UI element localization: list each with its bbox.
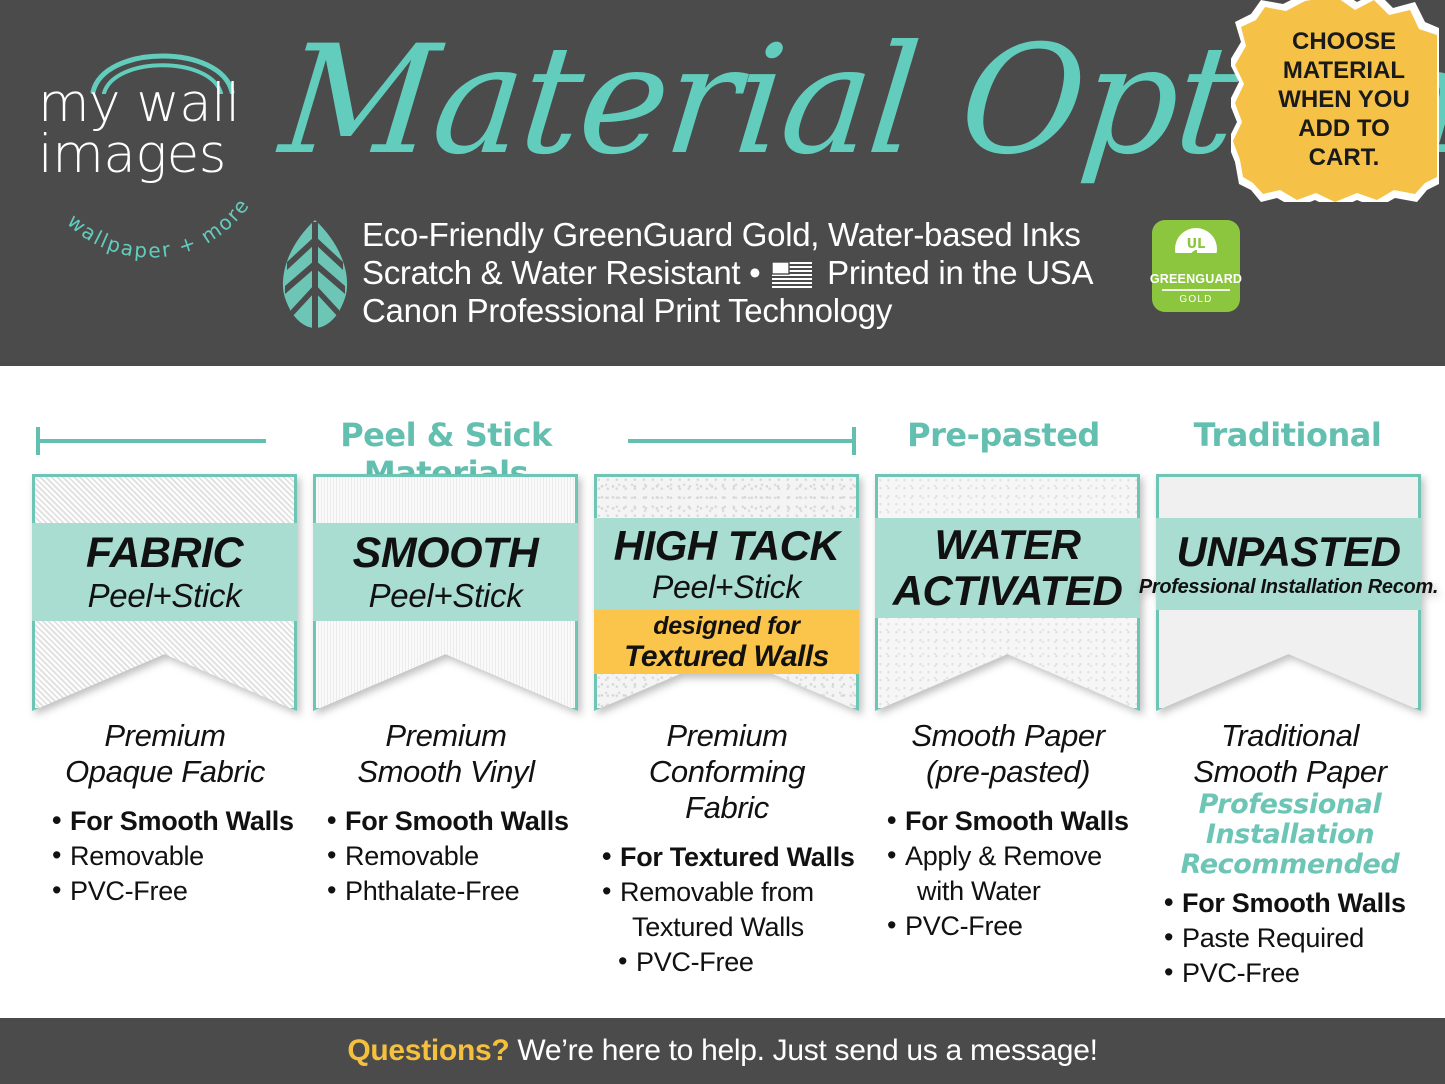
- material-subname: Peel+Stick: [369, 577, 523, 615]
- greenguard-gold-logo: UL GREENGUARD GOLD: [1152, 220, 1240, 312]
- material-name: UNPASTED: [1177, 529, 1401, 575]
- logo-wordmark: my wall images: [38, 78, 273, 180]
- banner-name-band: SMOOTH Peel+Stick: [313, 523, 578, 621]
- feature-list: •For Textured Walls •Removable from Text…: [594, 840, 860, 980]
- list-item-text: Removable from: [620, 877, 814, 907]
- desc-note-line-1: Professional Installation: [1150, 790, 1430, 850]
- desc-line-3: Fabric: [594, 790, 860, 826]
- bracket-line-left: [38, 439, 266, 443]
- bullet-dot-icon: •: [1164, 955, 1173, 990]
- logo-line-1: my wall: [38, 78, 273, 129]
- material-name: FABRIC: [86, 529, 243, 577]
- bullet-dot-icon: •: [1164, 920, 1173, 955]
- group-headers: Peel & Stick Materials Pre-pasted Tradit…: [0, 418, 1445, 468]
- banner-textured-band: designed for Textured Walls: [594, 610, 859, 674]
- material-column-fabric: Premium Opaque Fabric •For Smooth Walls …: [32, 718, 298, 909]
- desc-line-2: Opaque Fabric: [32, 754, 298, 790]
- list-item: •For Smooth Walls: [1162, 886, 1430, 921]
- list-item: •For Smooth Walls: [325, 804, 579, 839]
- badge-line-4: ADD TO: [1298, 114, 1390, 143]
- material-subname: Peel+Stick: [88, 577, 242, 615]
- list-item-text: For Smooth Walls: [70, 806, 294, 836]
- leaf-icon: [277, 218, 353, 330]
- list-item-text: Phthalate-Free: [345, 876, 519, 906]
- material-subname: Peel+Stick: [652, 569, 801, 605]
- banner-name-band: WATER ACTIVATED: [875, 518, 1140, 618]
- greenguard-divider: [1162, 289, 1230, 291]
- desc-line-1: Smooth Paper: [875, 718, 1141, 754]
- logo-tagline-text: wallpaper + more: [63, 193, 255, 263]
- list-item: •PVC-Free: [600, 945, 860, 980]
- usa-flag-icon: [772, 258, 812, 284]
- logo-tagline: wallpaper + more: [38, 198, 273, 248]
- greenguard-level: GOLD: [1179, 294, 1212, 305]
- material-name: SMOOTH: [353, 529, 539, 577]
- desc-line-1: Traditional: [1150, 718, 1430, 754]
- eco-line-3: Canon Professional Print Technology: [362, 292, 1152, 330]
- bullet-dot-icon: •: [887, 838, 896, 873]
- feature-list: •For Smooth Walls •Paste Required •PVC-F…: [1150, 886, 1430, 991]
- list-item-text: with Water: [917, 876, 1041, 906]
- list-item: •For Smooth Walls: [50, 804, 298, 839]
- list-item-text: For Smooth Walls: [345, 806, 569, 836]
- badge-text: CHOOSE MATERIAL WHEN YOU ADD TO CART.: [1231, 0, 1439, 202]
- list-item-text: Paste Required: [1182, 923, 1364, 953]
- eco-line-2b: Printed in the USA: [827, 254, 1093, 291]
- bullet-dot-icon: •: [1164, 885, 1173, 920]
- desc-line-2: Smooth Paper: [1150, 754, 1430, 790]
- list-item-text: Removable: [70, 841, 204, 871]
- material-banners: FABRIC Peel+Stick SMOOTH Peel+Stick HIGH…: [0, 474, 1445, 714]
- material-column-unpasted: Traditional Smooth Paper Professional In…: [1150, 718, 1430, 991]
- list-item: •Phthalate-Free: [325, 874, 579, 909]
- feature-list: •For Smooth Walls •Apply & Remove with W…: [875, 804, 1141, 944]
- list-item-text: PVC-Free: [636, 947, 754, 977]
- footer-text: Questions? We’re here to help. Just send…: [347, 1034, 1097, 1068]
- group-label-pre-pasted: Pre-pasted: [876, 416, 1131, 454]
- list-item-text: Textured Walls: [632, 912, 804, 942]
- feature-list: •For Smooth Walls •Removable •Phthalate-…: [313, 804, 579, 909]
- banner-name-band: HIGH TACK Peel+Stick: [594, 518, 859, 610]
- footer-bar: Questions? We’re here to help. Just send…: [0, 1018, 1445, 1084]
- badge-line-3: WHEN YOU: [1278, 85, 1410, 114]
- eco-claims: Eco-Friendly GreenGuard Gold, Water-base…: [362, 216, 1152, 330]
- desc-line-1: Premium: [32, 718, 298, 754]
- bullet-dot-icon: •: [52, 803, 61, 838]
- desc-line-2: Conforming: [594, 754, 860, 790]
- desc-line-2: Smooth Vinyl: [313, 754, 579, 790]
- list-item-text: For Textured Walls: [620, 842, 855, 872]
- list-item: •For Smooth Walls: [885, 804, 1141, 839]
- list-item: •PVC-Free: [1162, 956, 1430, 991]
- bullet-dot-icon: •: [327, 838, 336, 873]
- material-column-water-activated: Smooth Paper (pre-pasted) •For Smooth Wa…: [875, 718, 1141, 944]
- material-banner-unpasted[interactable]: UNPASTED Professional Installation Recom…: [1156, 474, 1421, 711]
- badge-line-2: MATERIAL: [1283, 56, 1405, 85]
- list-item: •Removable from: [600, 875, 860, 910]
- list-item: •Removable: [50, 839, 298, 874]
- list-item-text: PVC-Free: [905, 911, 1023, 941]
- list-item-text: For Smooth Walls: [1182, 888, 1406, 918]
- bullet-dot-icon: •: [52, 838, 61, 873]
- material-column-high-tack: Premium Conforming Fabric •For Textured …: [594, 718, 860, 980]
- list-item: •PVC-Free: [885, 909, 1141, 944]
- list-item-text: PVC-Free: [70, 876, 188, 906]
- brand-logo: my wall images wallpaper + more: [38, 30, 273, 215]
- desc-line-2: (pre-pasted): [875, 754, 1141, 790]
- eco-line-2: Scratch & Water Resistant • P: [362, 254, 1152, 292]
- header-banner: my wall images wallpaper + more Material…: [0, 0, 1445, 366]
- desc-note-line-2: Recommended: [1150, 850, 1430, 880]
- list-item: Textured Walls: [600, 910, 860, 945]
- svg-text:wallpaper + more: wallpaper + more: [63, 193, 255, 263]
- eco-line-1: Eco-Friendly GreenGuard Gold, Water-base…: [362, 216, 1152, 254]
- desc-line-1: Premium: [313, 718, 579, 754]
- footer-question-label: Questions?: [347, 1034, 509, 1067]
- badge-line-5: CART.: [1309, 143, 1380, 172]
- list-item: •PVC-Free: [50, 874, 298, 909]
- textured-line-2: Textured Walls: [624, 640, 829, 673]
- bullet-dot-icon: •: [327, 803, 336, 838]
- bullet-dot-icon: •: [327, 873, 336, 908]
- list-item-text: Apply & Remove: [905, 841, 1102, 871]
- bracket-cap-right: [852, 427, 856, 455]
- svg-text:UL: UL: [1187, 237, 1206, 252]
- materials-section: Peel & Stick Materials Pre-pasted Tradit…: [0, 366, 1445, 1018]
- bullet-dot-icon: •: [602, 839, 611, 874]
- banner-name-band: UNPASTED Professional Installation Recom…: [1156, 518, 1421, 610]
- banner-name-band: FABRIC Peel+Stick: [32, 523, 297, 621]
- page-title: Material Options: [274, 12, 1233, 190]
- list-item-text: PVC-Free: [1182, 958, 1300, 988]
- badge-line-1: CHOOSE: [1292, 27, 1396, 56]
- list-item-text: For Smooth Walls: [905, 806, 1129, 836]
- bullet-dot-icon: •: [887, 908, 896, 943]
- logo-line-2: images: [38, 129, 273, 180]
- desc-line-1: Premium: [594, 718, 860, 754]
- group-label-traditional: Traditional: [1155, 416, 1420, 454]
- material-column-smooth: Premium Smooth Vinyl •For Smooth Walls •…: [313, 718, 579, 909]
- bullet-dot-icon: •: [618, 944, 627, 979]
- list-item: with Water: [885, 874, 1141, 909]
- list-item: •Paste Required: [1162, 921, 1430, 956]
- eco-line-2a: Scratch & Water Resistant •: [362, 254, 760, 291]
- peel-stick-bracket: Peel & Stick Materials: [36, 418, 856, 464]
- textured-line-1: designed for: [653, 612, 799, 640]
- list-item: •For Textured Walls: [600, 840, 860, 875]
- list-item: •Removable: [325, 839, 579, 874]
- material-banner-high-tack[interactable]: HIGH TACK Peel+Stick designed for Textur…: [594, 474, 859, 711]
- bullet-dot-icon: •: [602, 874, 611, 909]
- material-name: WATER: [934, 522, 1080, 568]
- material-banner-fabric[interactable]: FABRIC Peel+Stick: [32, 474, 297, 711]
- greenguard-name: GREENGUARD: [1150, 272, 1242, 286]
- footer-message: We’re here to help. Just send us a messa…: [509, 1034, 1097, 1067]
- list-item-text: Removable: [345, 841, 479, 871]
- bracket-line-right: [628, 439, 854, 443]
- feature-list: •For Smooth Walls •Removable •PVC-Free: [32, 804, 298, 909]
- bullet-dot-icon: •: [887, 803, 896, 838]
- choose-material-badge: CHOOSE MATERIAL WHEN YOU ADD TO CART.: [1231, 0, 1439, 202]
- material-name: HIGH TACK: [614, 523, 840, 569]
- material-banner-water-activated[interactable]: WATER ACTIVATED: [875, 474, 1140, 711]
- ul-mark-icon: UL: [1173, 226, 1219, 272]
- list-item: •Apply & Remove: [885, 839, 1141, 874]
- material-banner-smooth[interactable]: SMOOTH Peel+Stick: [313, 474, 578, 711]
- material-subname: ACTIVATED: [893, 568, 1123, 614]
- bullet-dot-icon: •: [52, 873, 61, 908]
- material-subname: Professional Installation Recom.: [1139, 575, 1438, 599]
